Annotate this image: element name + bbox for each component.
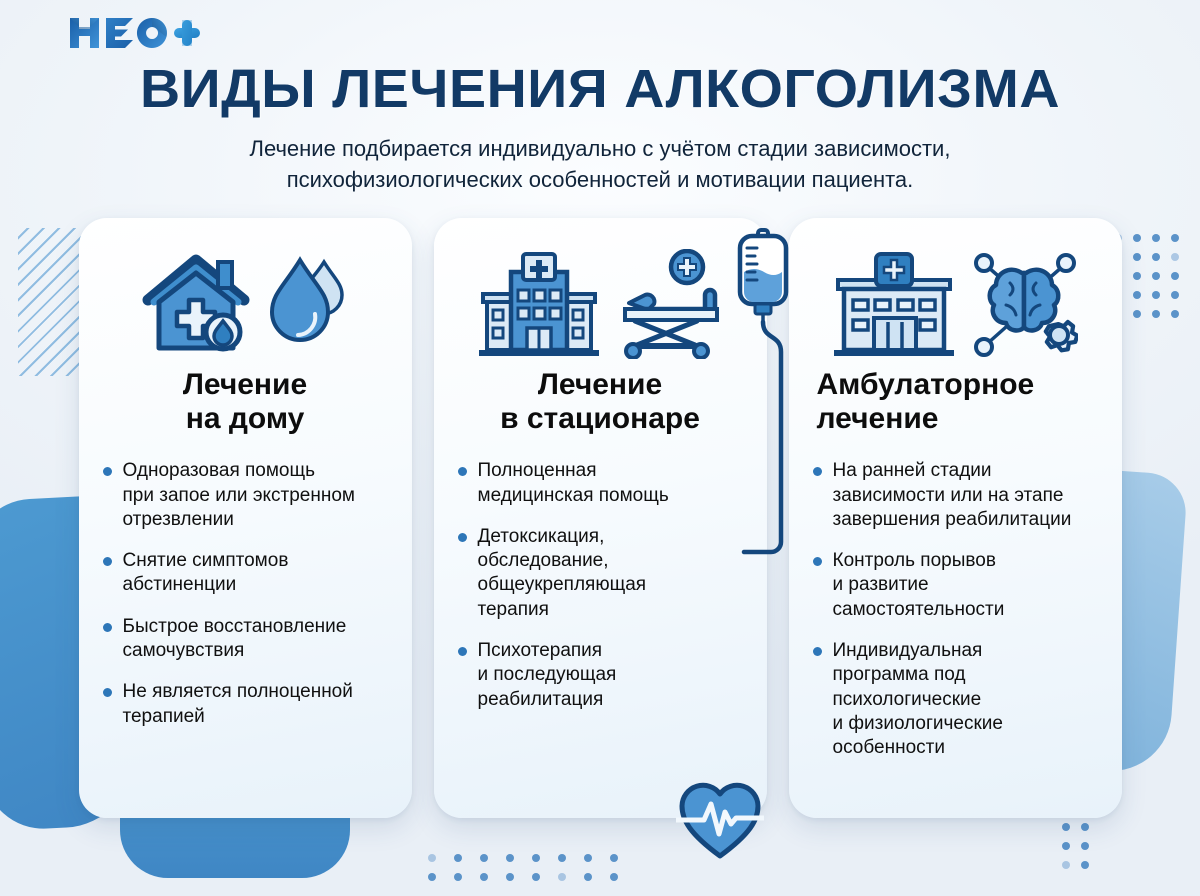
dot	[558, 854, 566, 862]
treatment-cards: Лечение на дому Одноразовая помощь при з…	[0, 218, 1200, 818]
header: ВИДЫ ЛЕЧЕНИЯ АЛКОГОЛИЗМА Лечение подбира…	[0, 0, 1200, 196]
dot	[610, 854, 618, 862]
card-3-title: Амбулаторное лечение	[811, 368, 1100, 438]
page-title: ВИДЫ ЛЕЧЕНИЯ АЛКОГОЛИЗМА	[0, 62, 1200, 116]
card-2-title: Лечение в стационаре	[456, 368, 745, 438]
brain-gear-icon	[970, 251, 1078, 357]
iv-drip-icon	[730, 228, 800, 573]
card-1-icons	[101, 244, 390, 364]
card-2-bullets: Полноценная медицинская помощь Детоксика…	[456, 459, 745, 712]
subtitle-line-2: психофизиологических особенностей и моти…	[287, 167, 914, 192]
subtitle-line-1: Лечение подбирается индивидуально с учёт…	[250, 136, 951, 161]
dot	[532, 854, 540, 862]
page-subtitle: Лечение подбирается индивидуально с учёт…	[85, 134, 1115, 196]
brand-logo[interactable]	[68, 14, 1200, 52]
dot	[1062, 823, 1070, 831]
dot	[428, 873, 436, 881]
dot	[610, 873, 618, 881]
list-item: Детоксикация, обследование, общеукрепляю…	[456, 525, 745, 622]
list-item: На ранней стадии зависимости или на этап…	[811, 459, 1100, 532]
dot	[1081, 823, 1089, 831]
dot	[480, 873, 488, 881]
dot	[1062, 842, 1070, 850]
dot	[480, 854, 488, 862]
list-item: Снятие симптомов абстиненции	[101, 549, 390, 598]
hospital-bed-icon	[615, 249, 723, 359]
water-drop-icon	[268, 254, 348, 354]
list-item: Не является полноценной терапией	[101, 680, 390, 729]
card-3-icons	[811, 244, 1100, 364]
dot	[532, 873, 540, 881]
card-3-bullets: На ранней стадии зависимости или на этап…	[811, 459, 1100, 760]
dot	[506, 854, 514, 862]
card-inpatient-treatment[interactable]: Лечение в стационаре Полноценная медицин…	[434, 218, 767, 818]
card-1-bullets: Одноразовая помощь при запое или экстрен…	[101, 459, 390, 729]
list-item: Психотерапия и последующая реабилитация	[456, 639, 745, 712]
card-1-title: Лечение на дому	[101, 368, 390, 438]
heart-pulse-icon	[676, 778, 764, 867]
list-item: Индивидуальная программа под психологиче…	[811, 639, 1100, 761]
dot	[584, 854, 592, 862]
list-item: Полноценная медицинская помощь	[456, 459, 745, 508]
dot	[1081, 861, 1089, 869]
dot	[1062, 861, 1070, 869]
card-home-treatment[interactable]: Лечение на дому Одноразовая помощь при з…	[79, 218, 412, 818]
dot	[584, 873, 592, 881]
dot	[506, 873, 514, 881]
dot	[454, 873, 462, 881]
card-2-icons	[456, 244, 745, 364]
infographic-canvas: ВИДЫ ЛЕЧЕНИЯ АЛКОГОЛИЗМА Лечение подбира…	[0, 0, 1200, 896]
dot	[428, 854, 436, 862]
dot	[454, 854, 462, 862]
clinic-building-icon	[832, 250, 956, 358]
hospital-building-icon	[477, 250, 601, 358]
house-medical-icon	[142, 252, 254, 356]
list-item: Быстрое восстановление самочувствия	[101, 615, 390, 664]
dot	[1081, 842, 1089, 850]
card-outpatient-treatment[interactable]: Амбулаторное лечение На ранней стадии за…	[789, 218, 1122, 818]
dot	[558, 873, 566, 881]
list-item: Одноразовая помощь при запое или экстрен…	[101, 459, 390, 532]
list-item: Контроль порывов и развитие самостоятель…	[811, 549, 1100, 622]
